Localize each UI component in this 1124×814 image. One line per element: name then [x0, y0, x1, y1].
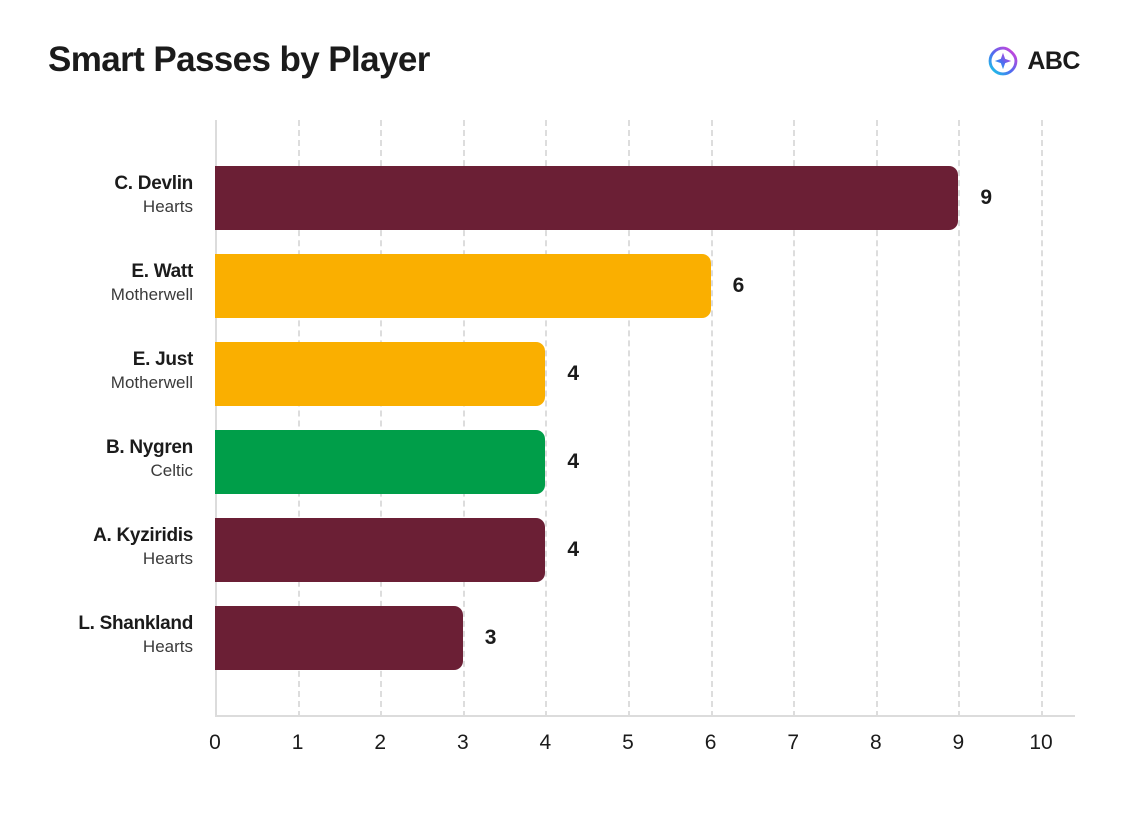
- bar-value-label: 3: [485, 626, 497, 650]
- brand-logo: ABC: [988, 46, 1080, 76]
- team-name: Celtic: [18, 460, 193, 482]
- player-name: L. Shankland: [18, 612, 193, 636]
- x-tick-10: 10: [1029, 731, 1052, 755]
- bar-row: 4: [215, 518, 1075, 582]
- bar-row: 4: [215, 430, 1075, 494]
- bar[interactable]: [215, 606, 463, 670]
- player-name: E. Watt: [18, 260, 193, 284]
- x-axis-line: [215, 715, 1075, 717]
- bar-value-label: 4: [567, 362, 579, 386]
- bar[interactable]: [215, 518, 545, 582]
- bar-value-label: 6: [733, 274, 745, 298]
- bar-row: 3: [215, 606, 1075, 670]
- bar[interactable]: [215, 342, 545, 406]
- bar-row: 6: [215, 254, 1075, 318]
- x-tick-8: 8: [870, 731, 882, 755]
- category-label: E. JustMotherwell: [18, 348, 193, 394]
- abc-gradient-star-logo-icon: [988, 46, 1018, 76]
- team-name: Hearts: [18, 636, 193, 658]
- bar-value-label: 4: [567, 538, 579, 562]
- bar-row: 4: [215, 342, 1075, 406]
- brand-name: ABC: [1027, 47, 1080, 76]
- plot-area: 964443: [215, 120, 1075, 717]
- bar-value-label: 4: [567, 450, 579, 474]
- bar[interactable]: [215, 166, 958, 230]
- x-tick-5: 5: [622, 731, 634, 755]
- bar[interactable]: [215, 254, 711, 318]
- bar-row: 9: [215, 166, 1075, 230]
- bar-value-label: 9: [980, 186, 992, 210]
- x-tick-3: 3: [457, 731, 469, 755]
- category-label: B. NygrenCeltic: [18, 436, 193, 482]
- x-tick-2: 2: [374, 731, 386, 755]
- page-title: Smart Passes by Player: [48, 40, 430, 80]
- player-name: A. Kyziridis: [18, 524, 193, 548]
- player-name: C. Devlin: [18, 172, 193, 196]
- x-tick-4: 4: [540, 731, 552, 755]
- x-tick-7: 7: [787, 731, 799, 755]
- x-tick-0: 0: [209, 731, 221, 755]
- x-tick-6: 6: [705, 731, 717, 755]
- bar[interactable]: [215, 430, 545, 494]
- team-name: Hearts: [18, 548, 193, 570]
- team-name: Hearts: [18, 196, 193, 218]
- team-name: Motherwell: [18, 284, 193, 306]
- x-tick-9: 9: [953, 731, 965, 755]
- team-name: Motherwell: [18, 372, 193, 394]
- category-label: E. WattMotherwell: [18, 260, 193, 306]
- category-label: A. KyziridisHearts: [18, 524, 193, 570]
- player-name: E. Just: [18, 348, 193, 372]
- category-label: L. ShanklandHearts: [18, 612, 193, 658]
- player-name: B. Nygren: [18, 436, 193, 460]
- chart-container: Smart Passes by Player ABC 964443 C. Dev…: [0, 0, 1124, 814]
- x-tick-1: 1: [292, 731, 304, 755]
- category-label: C. DevlinHearts: [18, 172, 193, 218]
